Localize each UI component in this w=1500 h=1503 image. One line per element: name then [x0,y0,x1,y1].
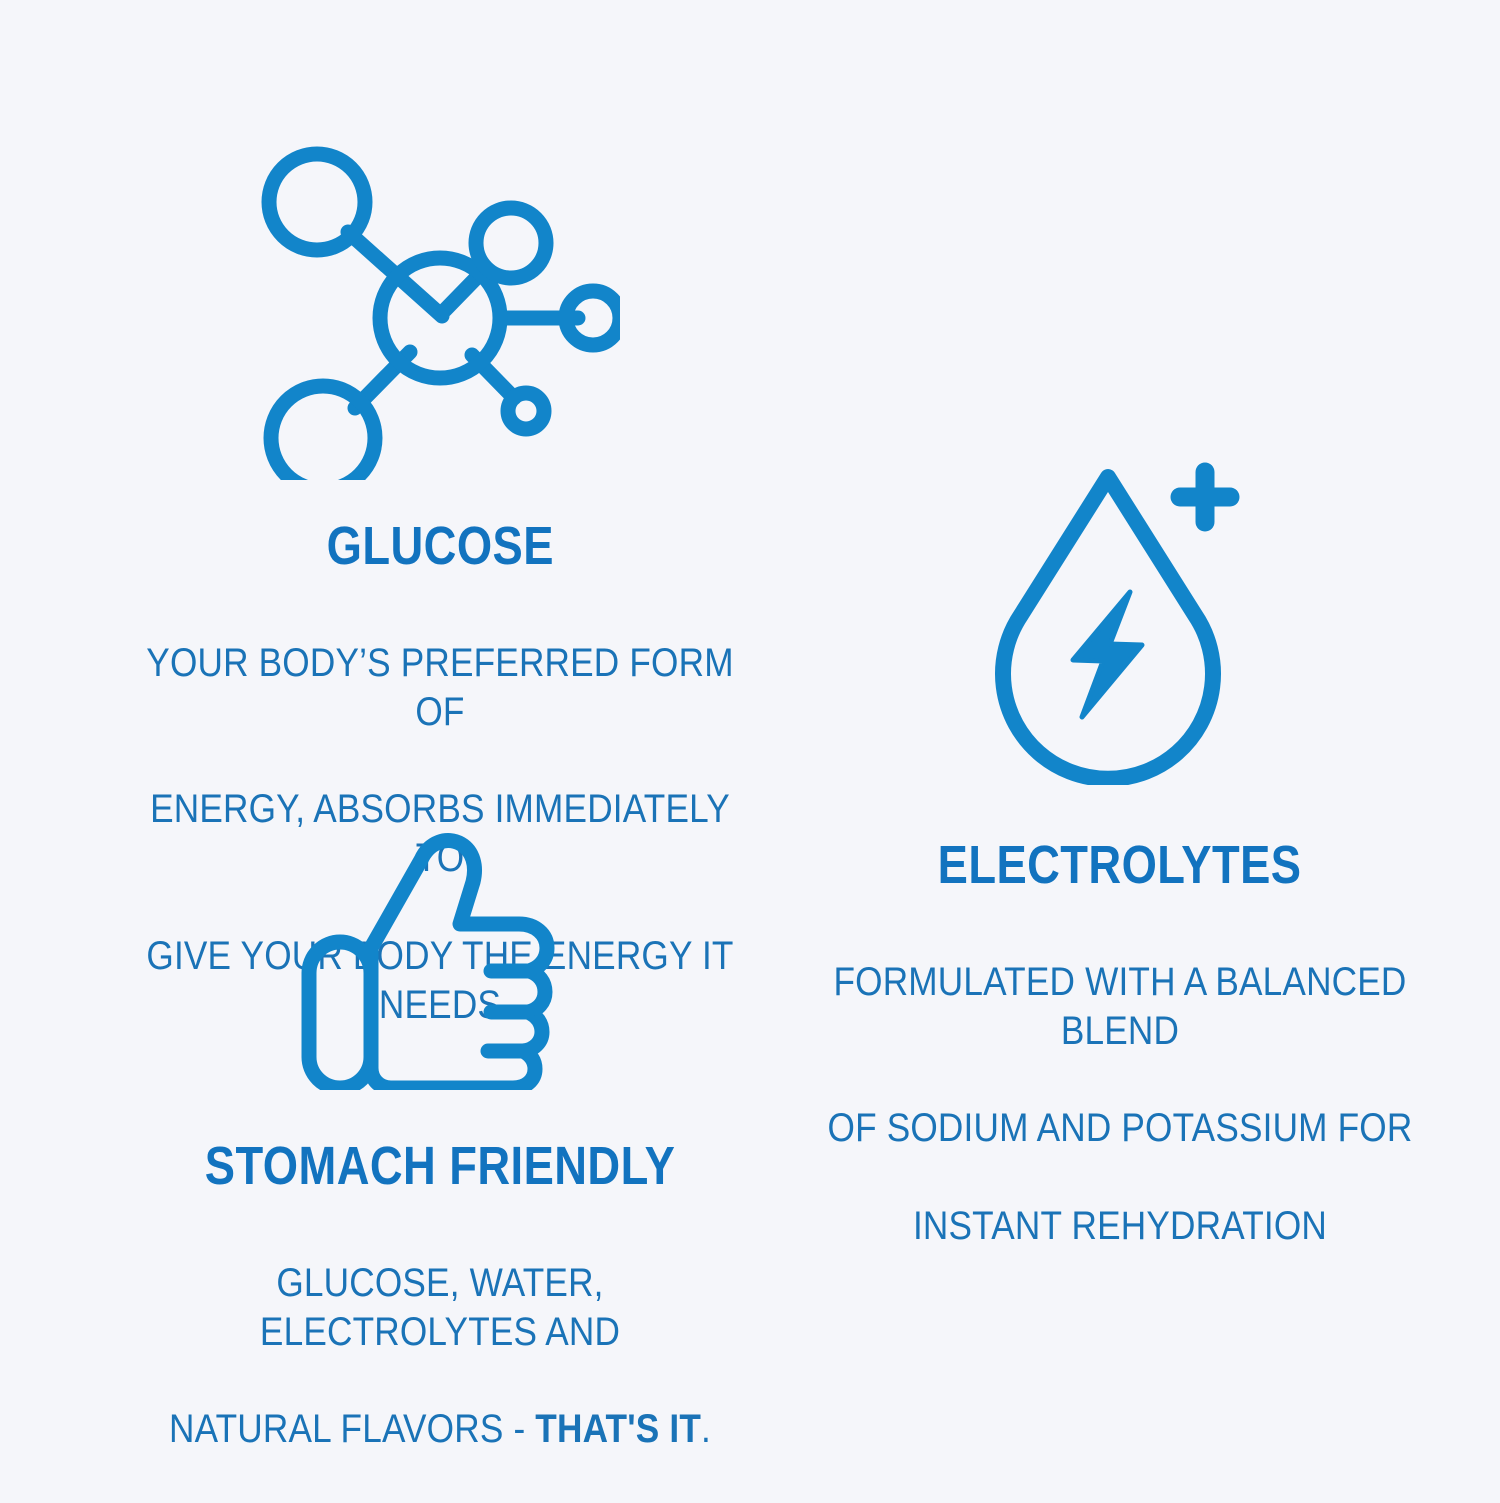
feature-title: GLUCOSE [326,518,553,574]
feature-electrolytes: ELECTROLYTES FORMULATED WITH A BALANCED … [770,455,1470,1300]
molecule-icon [260,140,620,480]
feature-title: ELECTROLYTES [938,837,1302,893]
infographic-canvas: GLUCOSE YOUR BODY’S PREFERRED FORM OF EN… [0,0,1500,1500]
feature-title: STOMACH FRIENDLY [205,1138,675,1194]
description-line: GLUCOSE, WATER, ELECTROLYTES AND [136,1259,743,1357]
description-line: NATURAL FLAVORS - THAT'S IT. [136,1405,743,1454]
description-line: INSTANT REHYDRATION [812,1202,1428,1251]
feature-stomach: STOMACH FRIENDLY GLUCOSE, WATER, ELECTRO… [95,820,785,1503]
feature-description: GLUCOSE, WATER, ELECTROLYTES AND NATURAL… [136,1210,743,1503]
description-line-prefix: NATURAL FLAVORS - [169,1407,535,1451]
lightning-bolt [1073,592,1142,717]
description-line: FORMULATED WITH A BALANCED BLEND [812,958,1428,1056]
thumb-cuff [309,942,371,1088]
plus-sign [1180,472,1230,522]
description-line: OF SODIUM AND POTASSIUM FOR [812,1104,1428,1153]
water-drop-bolt-plus-icon [990,455,1250,785]
description-emphasis: THAT'S IT [535,1407,701,1451]
thumbs-up-icon [295,820,585,1090]
description-line: YOUR BODY’S PREFERRED FORM OF [132,639,748,737]
feature-description: FORMULATED WITH A BALANCED BLEND OF SODI… [812,909,1428,1299]
description-tail: . [701,1407,711,1451]
